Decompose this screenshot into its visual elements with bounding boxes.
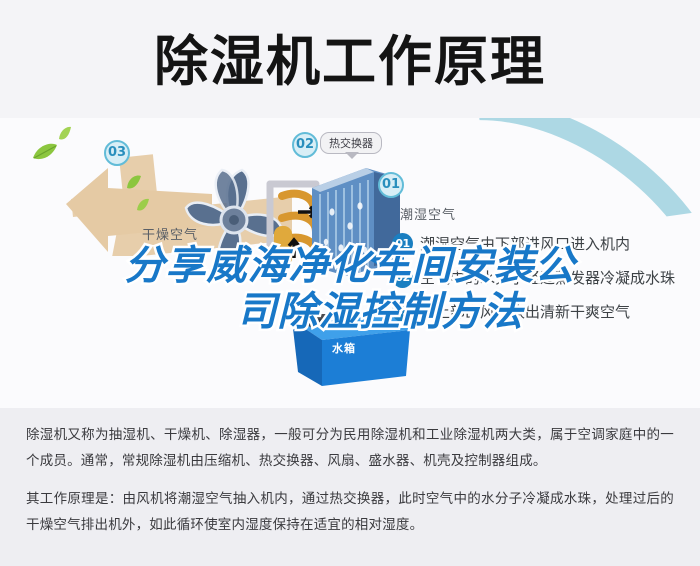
page-title-part2: 工作原理 <box>322 30 546 93</box>
leaf-icon <box>32 142 58 162</box>
leaf-icon <box>58 126 72 142</box>
humid-air-label: 潮湿空气 <box>400 204 456 223</box>
water-tank-label: 水箱 <box>332 340 356 356</box>
paragraph-2: 其工作原理是：由风机将潮湿空气抽入机内，通过热交换器，此时空气中的水分子冷凝成水… <box>26 486 674 538</box>
leaf-icon <box>136 198 150 212</box>
infographic-page: 除湿机工作原理 <box>0 0 700 566</box>
page-title-part1: 除湿机 <box>154 30 322 93</box>
illustration-badge-01: 01 <box>378 172 404 198</box>
overlay-headline-line1: 分享威海净化车间安装公 <box>0 243 700 289</box>
illustration-badge-02: 02 <box>292 132 318 158</box>
overlay-headline: 分享威海净化车间安装公 司除湿控制方法 <box>0 243 700 335</box>
leaf-icon <box>126 174 142 190</box>
page-title: 除湿机工作原理 <box>0 32 700 92</box>
overlay-headline-line2: 司除湿控制方法 <box>0 289 700 335</box>
article-body: 除湿机又称为抽湿机、干燥机、除湿器，一般可分为民用除湿机和工业除湿机两大类，属于… <box>0 408 700 566</box>
heat-exchanger-callout: 热交换器 <box>320 132 382 154</box>
paragraph-1: 除湿机又称为抽湿机、干燥机、除湿器，一般可分为民用除湿机和工业除湿机两大类，属于… <box>26 422 674 474</box>
dry-air-label: 干燥空气 <box>142 224 198 243</box>
hero-infographic: 除湿机工作原理 <box>0 0 700 408</box>
illustration-badge-03: 03 <box>104 140 130 166</box>
